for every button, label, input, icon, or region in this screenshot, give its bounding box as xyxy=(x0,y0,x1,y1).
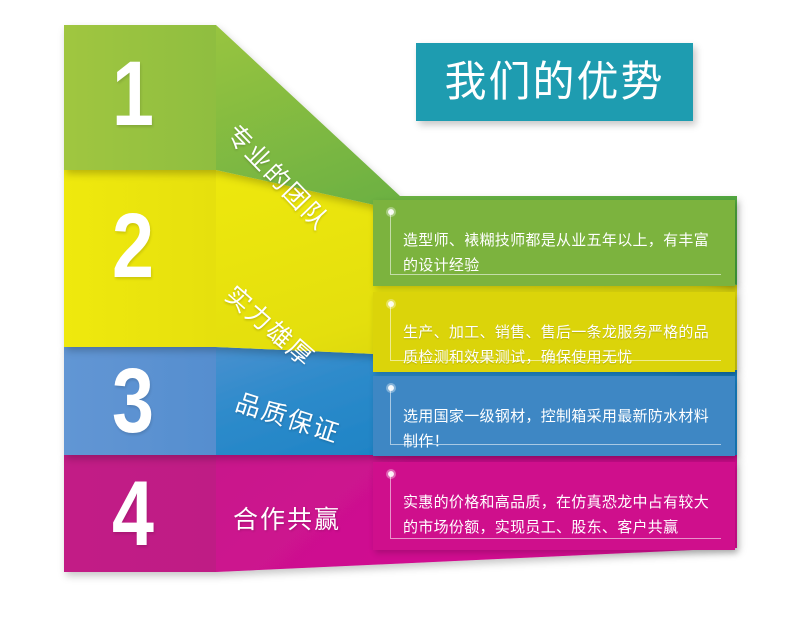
description-text-1: 造型师、裱糊技师都是从业五年以上，有丰富的设计经验 xyxy=(403,228,717,278)
page-title-text: 我们的优势 xyxy=(444,61,664,103)
panel-frame-1: 造型师、裱糊技师都是从业五年以上，有丰富的设计经验 xyxy=(390,212,721,275)
bullet-dot-icon xyxy=(388,385,394,391)
description-panel-1: 造型师、裱糊技师都是从业五年以上，有丰富的设计经验 xyxy=(373,200,735,286)
description-text-3: 选用国家一级钢材，控制箱采用最新防水材料制作！ xyxy=(403,404,717,454)
page-title: 我们的优势 xyxy=(416,43,693,121)
description-panel-2: 生产、加工、销售、售后一条龙服务严格的品质检测和效果测试，确保使用无忧 xyxy=(373,292,735,372)
description-text-4: 实惠的价格和高品质，在仿真恐龙中占有较大的市场份额，实现员工、股东、客户共赢 xyxy=(403,490,717,540)
panel-frame-3: 选用国家一级钢材，控制箱采用最新防水材料制作！ xyxy=(390,388,721,445)
panel-frame-2: 生产、加工、销售、售后一条龙服务严格的品质检测和效果测试，确保使用无忧 xyxy=(390,304,721,361)
panel-frame-4: 实惠的价格和高品质，在仿真恐龙中占有较大的市场份额，实现员工、股东、客户共赢 xyxy=(390,474,721,539)
bullet-dot-icon xyxy=(388,301,394,307)
description-panel-3: 选用国家一级钢材，控制箱采用最新防水材料制作！ xyxy=(373,376,735,456)
description-text-2: 生产、加工、销售、售后一条龙服务严格的品质检测和效果测试，确保使用无忧 xyxy=(403,320,717,370)
infographic-canvas: 我们的优势 1 2 3 4 专业的团队 实力雄厚 品质保证 合作共赢 造型师、裱… xyxy=(0,0,800,622)
description-panel-4: 实惠的价格和高品质，在仿真恐龙中占有较大的市场份额，实现员工、股东、客户共赢 xyxy=(373,462,735,550)
bullet-dot-icon xyxy=(388,471,394,477)
bullet-dot-icon xyxy=(388,209,394,215)
